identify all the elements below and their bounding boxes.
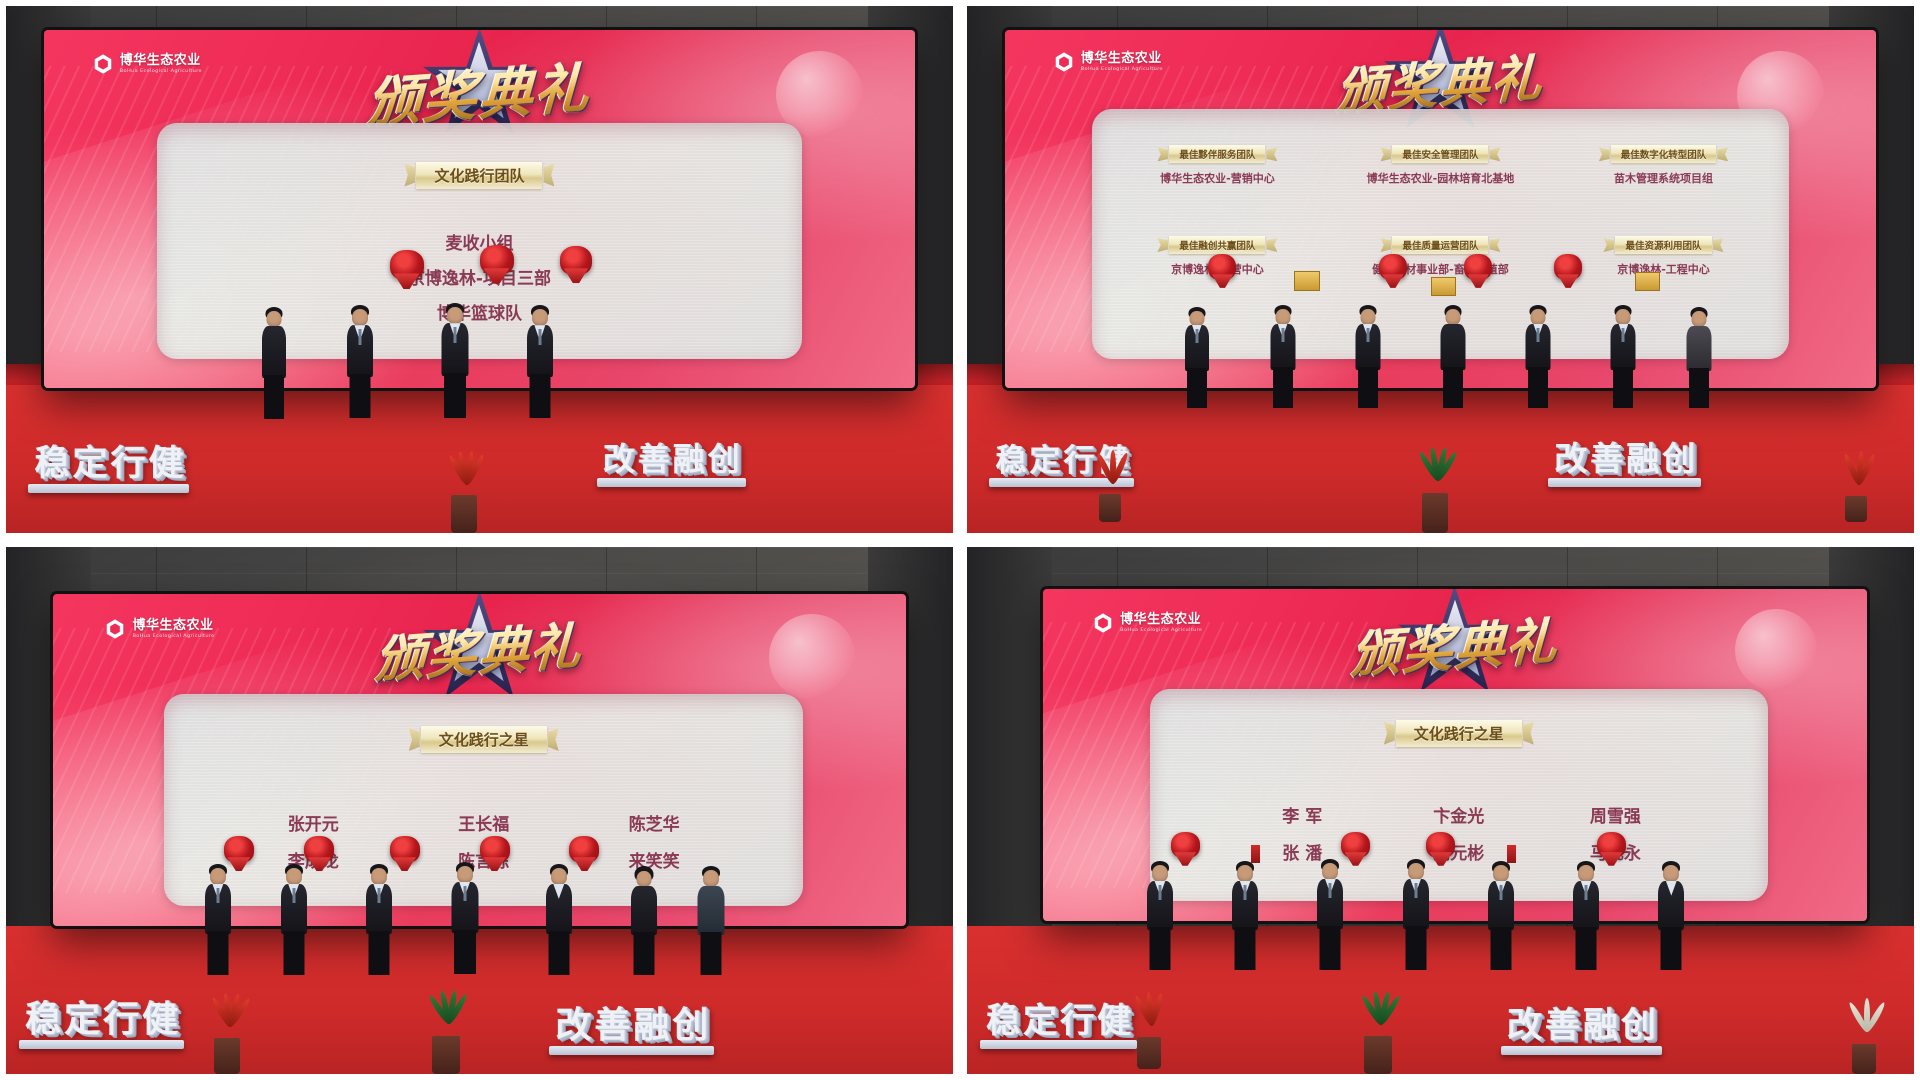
slogan-char: 创 bbox=[1621, 997, 1656, 1048]
photo-panel-bottom-left: 博华生态农业 BoHua Ecological Agriculture 颁奖典礼… bbox=[6, 547, 953, 1074]
brand-name-en: BoHua Ecological Agriculture bbox=[120, 69, 202, 74]
award-ribbon-text: 最佳融创共赢团队 bbox=[1179, 238, 1255, 252]
stage-plant bbox=[1355, 992, 1401, 1074]
slogan-char: 行 bbox=[103, 990, 139, 1042]
slogan-char: 稳 bbox=[995, 435, 1026, 480]
person bbox=[1232, 861, 1258, 969]
person bbox=[1611, 305, 1636, 407]
slogan-char: 创 bbox=[1662, 432, 1695, 480]
award-ribbon: 最佳资源利用团队 bbox=[1615, 236, 1711, 254]
award-ribbon-text: 最佳资源利用团队 bbox=[1625, 238, 1701, 252]
award-winner: 健康食材事业部-畜禽养殖部 bbox=[1329, 261, 1552, 277]
stage-plant bbox=[1842, 1004, 1886, 1074]
brand-name-cn: 博华生态农业 bbox=[120, 54, 202, 67]
bouquet bbox=[1341, 832, 1370, 858]
stage-slogan-left: 稳 定 行 健 bbox=[34, 435, 183, 486]
award-title-text: 文化践行之星 bbox=[439, 729, 529, 750]
slogan-char: 善 bbox=[1590, 432, 1623, 480]
brand-name-en: BoHua Ecological Agriculture bbox=[1120, 629, 1202, 634]
slogan-char: 善 bbox=[638, 434, 670, 480]
bouquet bbox=[480, 836, 510, 863]
stage-plant bbox=[1836, 460, 1876, 522]
slogan-char: 定 bbox=[72, 435, 107, 486]
award-title-ribbon: 文化践行之星 bbox=[1396, 720, 1522, 747]
hexagon-ring-icon bbox=[92, 53, 114, 75]
stage-slogan-left: 稳 定 行 健 bbox=[986, 993, 1131, 1042]
bouquet bbox=[1426, 832, 1455, 858]
brand-name-en: BoHua Ecological Agriculture bbox=[132, 634, 214, 639]
slogan-char: 行 bbox=[110, 435, 145, 486]
award-ribbon-text: 最佳数字化转型团队 bbox=[1621, 147, 1707, 161]
person bbox=[366, 864, 392, 974]
photo-panel-top-left: 博华生态农业 BoHua Ecological Agriculture 颁奖典礼… bbox=[6, 6, 953, 533]
stage-plant bbox=[205, 996, 249, 1074]
award-ribbon: 最佳融创共赢团队 bbox=[1169, 236, 1265, 254]
bouquet bbox=[1208, 254, 1236, 280]
award-winner: 博华生态农业-营销中心 bbox=[1106, 170, 1329, 186]
certificate bbox=[1431, 277, 1456, 296]
stage-plant bbox=[442, 453, 486, 533]
certificate bbox=[1294, 271, 1320, 291]
award-folder bbox=[1507, 845, 1516, 863]
slogan-char: 健 bbox=[1097, 993, 1131, 1042]
slogan-char: 稳 bbox=[25, 990, 61, 1042]
award-ribbon: 最佳黟伴服务团队 bbox=[1169, 145, 1265, 163]
slogan-char: 健 bbox=[148, 435, 183, 486]
slogan-char: 稳 bbox=[34, 435, 69, 486]
award-entry: 京博逸林-项目三部 bbox=[157, 262, 802, 297]
person bbox=[451, 862, 478, 974]
person bbox=[1147, 861, 1173, 969]
person bbox=[697, 866, 724, 974]
bouquet bbox=[560, 246, 592, 275]
stage-plant bbox=[1412, 447, 1458, 533]
person bbox=[1270, 305, 1295, 407]
person bbox=[527, 305, 553, 417]
hexagon-ring-icon bbox=[1053, 51, 1075, 73]
led-screen: 博华生态农业 BoHua Ecological Agriculture 颁奖典礼… bbox=[53, 594, 905, 926]
stage-plant bbox=[1090, 458, 1130, 522]
stage-slogan-right: 改 善 融 创 bbox=[603, 434, 740, 480]
person bbox=[442, 303, 469, 417]
award-cell: 最佳安全管理团队 博华生态农业-园林培育北基地 bbox=[1329, 143, 1552, 234]
star-name: 王长福 bbox=[399, 810, 569, 835]
bouquet bbox=[1597, 832, 1626, 858]
star-name: 陈芝华 bbox=[569, 810, 739, 835]
person bbox=[281, 864, 307, 974]
certificate bbox=[1635, 272, 1660, 291]
person bbox=[1185, 307, 1209, 407]
award-entry: 博华篮球队 bbox=[157, 297, 802, 332]
slogan-char: 定 bbox=[1023, 993, 1057, 1042]
slogan-char: 行 bbox=[1060, 993, 1094, 1042]
brand-name-en: BoHua Ecological Agriculture bbox=[1081, 67, 1163, 72]
slogan-char: 改 bbox=[1554, 432, 1587, 480]
slogan-char: 融 bbox=[1626, 432, 1659, 480]
person bbox=[1687, 307, 1712, 407]
bouquet bbox=[224, 836, 254, 863]
award-ribbon-text: 最佳黟伴服务团队 bbox=[1179, 147, 1255, 161]
slogan-char: 改 bbox=[555, 996, 591, 1048]
person bbox=[205, 864, 231, 974]
slogan-char: 善 bbox=[594, 996, 630, 1048]
slogan-char: 创 bbox=[708, 434, 740, 480]
award-cell: 最佳黟伴服务团队 博华生态农业-营销中心 bbox=[1106, 143, 1329, 234]
person bbox=[1573, 861, 1599, 969]
bouquet bbox=[1171, 832, 1200, 858]
star-name: 李 军 bbox=[1224, 802, 1381, 827]
slogan-char: 定 bbox=[1029, 435, 1060, 480]
award-title-ribbon: 文化践行之星 bbox=[421, 726, 547, 753]
person bbox=[1317, 859, 1343, 969]
hexagon-ring-icon bbox=[1092, 612, 1114, 634]
star-name: 张开元 bbox=[228, 810, 398, 835]
award-title-text: 文化践行团队 bbox=[434, 165, 524, 186]
person bbox=[631, 866, 657, 974]
bouquet bbox=[569, 836, 599, 863]
award-folder bbox=[1251, 845, 1260, 863]
award-ribbon-text: 最佳安全管理团队 bbox=[1402, 147, 1478, 161]
brand-logo: 博华生态农业 BoHua Ecological Agriculture bbox=[1053, 51, 1163, 73]
person bbox=[546, 864, 572, 974]
slogan-char: 融 bbox=[633, 996, 669, 1048]
person bbox=[1658, 861, 1684, 969]
award-ribbon: 最佳数字化转型团队 bbox=[1611, 145, 1717, 163]
brand-logo: 博华生态农业 BoHua Ecological Agriculture bbox=[1092, 612, 1202, 634]
brand-name-cn: 博华生态农业 bbox=[132, 619, 214, 632]
person bbox=[347, 305, 373, 417]
person bbox=[262, 307, 286, 417]
person bbox=[1355, 305, 1380, 407]
award-winner: 博华生态农业-园林培育北基地 bbox=[1329, 170, 1552, 186]
stage-slogan-right: 改 善 融 创 bbox=[1507, 997, 1656, 1048]
award-title-ribbon: 文化践行团队 bbox=[416, 162, 542, 189]
stage-plant bbox=[423, 990, 469, 1074]
award-winner: 京博逸林-工程中心 bbox=[1552, 261, 1775, 277]
award-ribbon: 最佳安全管理团队 bbox=[1392, 145, 1488, 163]
award-ribbon-text: 最佳质量运营团队 bbox=[1402, 238, 1478, 252]
award-cell: 最佳数字化转型团队 苗木管理系统项目组 bbox=[1552, 143, 1775, 234]
slogan-char: 融 bbox=[1583, 997, 1618, 1048]
bouquet bbox=[1379, 254, 1407, 280]
led-screen: 博华生态农业 BoHua Ecological Agriculture 颁奖典礼… bbox=[44, 30, 915, 388]
brand-name-cn: 博华生态农业 bbox=[1081, 52, 1163, 65]
bouquet bbox=[480, 245, 514, 275]
award-cell: 最佳资源利用团队 京博逸林-工程中心 bbox=[1552, 234, 1775, 325]
stage-slogan-left: 稳 定 行 健 bbox=[25, 990, 178, 1042]
slogan-char: 健 bbox=[142, 990, 178, 1042]
bouquet bbox=[1554, 254, 1582, 280]
brand-logo: 博华生态农业 BoHua Ecological Agriculture bbox=[92, 53, 202, 75]
brand-name-cn: 博华生态农业 bbox=[1120, 613, 1202, 626]
bouquet bbox=[1464, 254, 1492, 280]
star-name: 卞金光 bbox=[1381, 802, 1538, 827]
person bbox=[1526, 305, 1551, 407]
person bbox=[1403, 859, 1429, 969]
photo-panel-top-right: 博华生态农业 BoHua Ecological Agriculture 颁奖典礼… bbox=[967, 6, 1914, 533]
bouquet bbox=[390, 250, 424, 280]
slogan-char: 稳 bbox=[986, 993, 1020, 1042]
bouquet bbox=[304, 836, 334, 863]
slogan-char: 定 bbox=[64, 990, 100, 1042]
award-card: 文化践行团队 麦收小组 京博逸林-项目三部 博华篮球队 bbox=[157, 123, 802, 360]
stage-slogan-right: 改 善 融 创 bbox=[1554, 432, 1695, 480]
award-title-text: 文化践行之星 bbox=[1414, 723, 1504, 744]
star-name: 周雪强 bbox=[1537, 802, 1694, 827]
slogan-char: 善 bbox=[1545, 997, 1580, 1048]
photo-collage-grid: 博华生态农业 BoHua Ecological Agriculture 颁奖典礼… bbox=[0, 0, 1920, 1080]
bouquet bbox=[390, 836, 420, 863]
person bbox=[1441, 305, 1466, 407]
slogan-char: 改 bbox=[603, 434, 635, 480]
slogan-char: 创 bbox=[672, 996, 708, 1048]
brand-logo: 博华生态农业 BoHua Ecological Agriculture bbox=[104, 618, 214, 640]
stage-plant bbox=[1128, 997, 1170, 1069]
stage-slogan-right: 改 善 融 创 bbox=[555, 996, 708, 1048]
award-winner: 苗木管理系统项目组 bbox=[1552, 170, 1775, 186]
person bbox=[1488, 861, 1514, 969]
slogan-char: 改 bbox=[1507, 997, 1542, 1048]
slogan-char: 融 bbox=[673, 434, 705, 480]
award-ribbon: 最佳质量运营团队 bbox=[1392, 236, 1488, 254]
hexagon-ring-icon bbox=[104, 618, 126, 640]
photo-panel-bottom-right: 博华生态农业 BoHua Ecological Agriculture 颁奖典礼… bbox=[967, 547, 1914, 1074]
